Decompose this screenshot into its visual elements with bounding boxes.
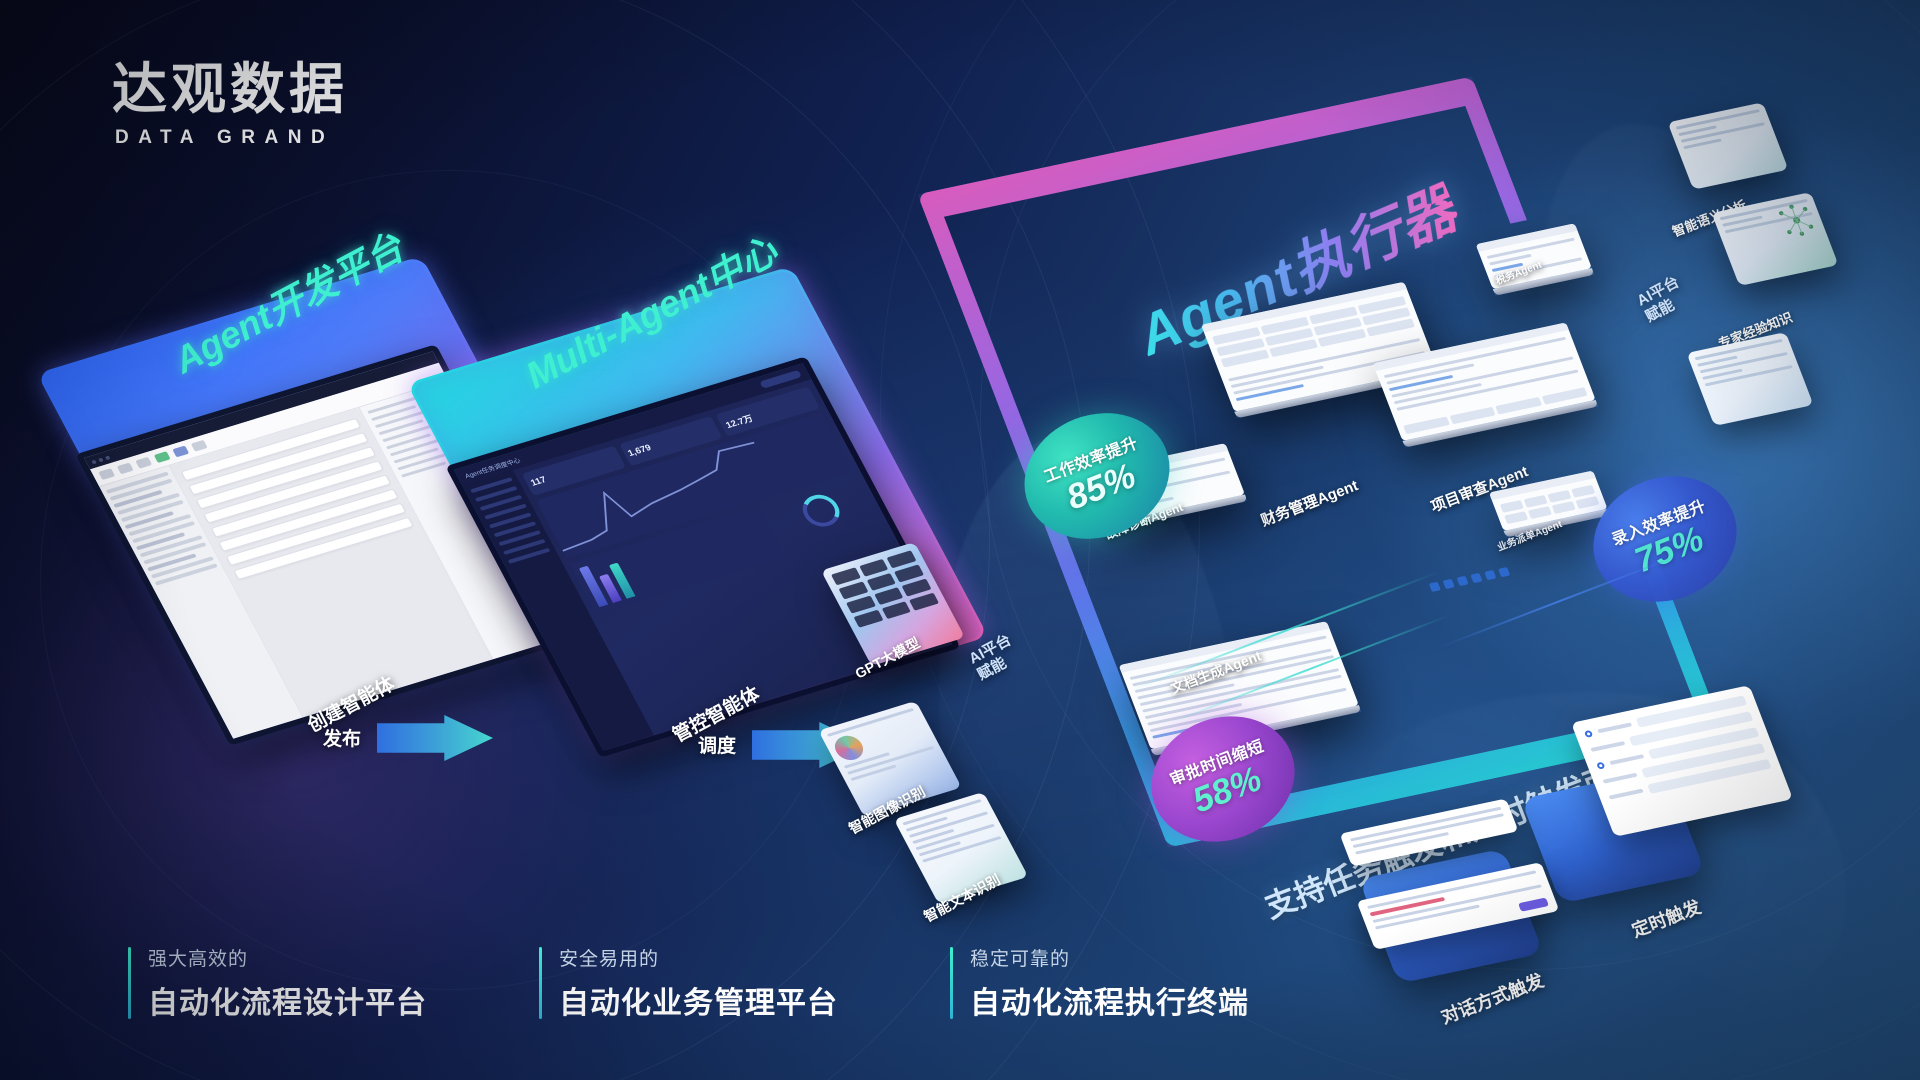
cell bbox=[1528, 506, 1552, 519]
cell bbox=[1571, 485, 1595, 498]
window-dot-icon bbox=[98, 457, 104, 462]
window-dot-icon bbox=[105, 455, 111, 460]
pie-chart-icon bbox=[830, 733, 868, 764]
publish-arrow-label: 发布 bbox=[323, 724, 361, 751]
window-dot-icon bbox=[91, 459, 97, 464]
bottom-caption-item: 稳定可靠的 自动化流程执行终端 bbox=[950, 944, 1249, 1022]
dot-icon bbox=[1456, 576, 1468, 586]
caption-main: 自动化流程设计平台 bbox=[148, 978, 427, 1022]
dot-icon bbox=[1443, 579, 1455, 589]
brand-logo: 达观数据 DATA GRAND bbox=[112, 60, 348, 149]
brand-name-cn: 达观数据 bbox=[112, 60, 348, 118]
cell bbox=[1552, 501, 1576, 514]
radio-icon[interactable] bbox=[1584, 729, 1593, 737]
bottom-caption-item: 安全易用的 自动化业务管理平台 bbox=[539, 944, 838, 1022]
cell bbox=[1575, 496, 1599, 509]
ribbon-tool-icon[interactable] bbox=[98, 468, 115, 480]
gauge-icon bbox=[796, 491, 845, 531]
cell bbox=[1524, 495, 1548, 508]
infographic-canvas: 达观数据 DATA GRAND bbox=[0, 0, 1920, 1080]
arrow-icon bbox=[377, 715, 493, 761]
model-chip bbox=[881, 601, 911, 619]
dot-icon bbox=[1484, 570, 1496, 580]
cell bbox=[1541, 387, 1587, 405]
model-chip bbox=[909, 593, 939, 611]
cell bbox=[1504, 511, 1528, 524]
ribbon-tool-icon[interactable] bbox=[135, 457, 152, 469]
field-label bbox=[1609, 754, 1644, 765]
caption-sub: 强大高效的 bbox=[148, 944, 427, 971]
ribbon-run-icon[interactable] bbox=[154, 451, 171, 463]
field-label bbox=[1597, 722, 1632, 733]
bottom-caption-item: 强大高效的 自动化流程设计平台 bbox=[128, 944, 427, 1022]
cell bbox=[1495, 397, 1541, 415]
cell bbox=[1403, 417, 1449, 435]
ribbon-tool-icon[interactable] bbox=[172, 446, 189, 458]
brand-name-en: DATA GRAND bbox=[115, 127, 348, 149]
caption-main: 自动化流程执行终端 bbox=[970, 978, 1249, 1022]
ribbon-tool-icon[interactable] bbox=[191, 440, 208, 452]
dispatch-arrow-label: 调度 bbox=[698, 731, 736, 758]
caption-main: 自动化业务管理平台 bbox=[559, 978, 838, 1022]
caption-sub: 稳定可靠的 bbox=[970, 944, 1249, 971]
dot-icon bbox=[1470, 573, 1482, 583]
cell bbox=[1449, 407, 1495, 425]
cell bbox=[1500, 500, 1524, 513]
publish-arrow: 发布 bbox=[325, 715, 493, 761]
ribbon-tool-icon[interactable] bbox=[117, 463, 134, 475]
field-label bbox=[1609, 789, 1644, 800]
dot-icon bbox=[1429, 582, 1441, 592]
radio-icon[interactable] bbox=[1596, 761, 1605, 769]
bottom-caption-bar: 强大高效的 自动化流程设计平台 安全易用的 自动化业务管理平台 稳定可靠的 自动… bbox=[128, 944, 1249, 1022]
model-chip bbox=[854, 610, 884, 628]
field-label bbox=[1590, 741, 1625, 752]
execute-button[interactable] bbox=[1518, 897, 1549, 911]
field-label bbox=[1602, 773, 1637, 784]
caption-sub: 安全易用的 bbox=[559, 944, 838, 971]
cell bbox=[1547, 490, 1571, 503]
